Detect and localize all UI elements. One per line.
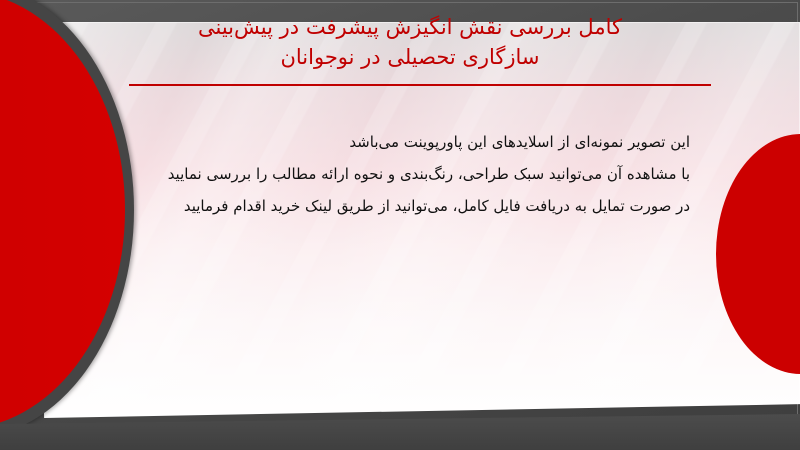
body-line-3: در صورت تمایل به دریافت فایل کامل، می‌تو…: [90, 190, 690, 222]
slide-title: کامل بررسی نقش انگیزش پیشرفت در پیش‌بینی…: [120, 12, 700, 72]
title-underline-rule: [129, 84, 711, 86]
slide-body-text: این تصویر نمونه‌ای از اسلایدهای این پاور…: [90, 126, 690, 222]
slide-title-line-1: کامل بررسی نقش انگیزش پیشرفت در پیش‌بینی: [120, 12, 700, 42]
slide-title-line-2: سازگاری تحصیلی در نوجوانان: [120, 42, 700, 72]
body-line-1: این تصویر نمونه‌ای از اسلایدهای این پاور…: [90, 126, 690, 158]
body-line-2: با مشاهده آن می‌توانید سبک طراحی، رنگ‌بن…: [90, 158, 690, 190]
presentation-slide: کامل بررسی نقش انگیزش پیشرفت در پیش‌بینی…: [0, 0, 800, 450]
